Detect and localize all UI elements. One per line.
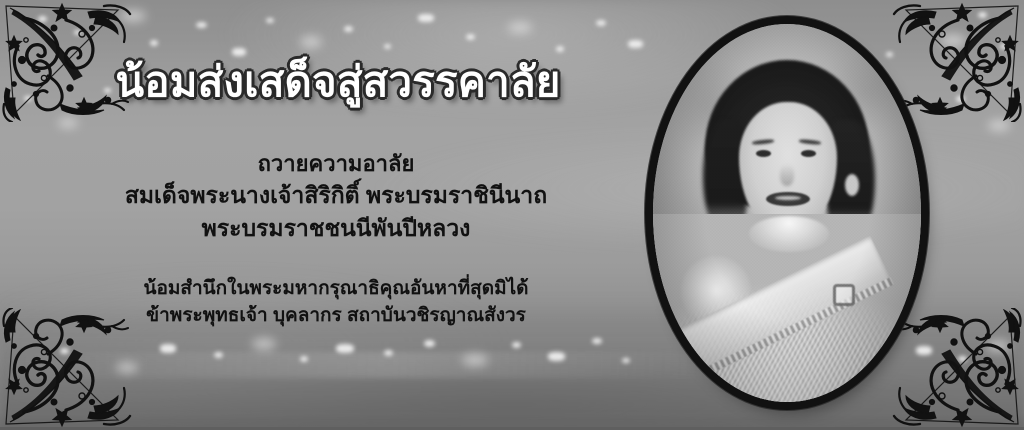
tribute-primary-line-2: สมเด็จพระนางเจ้าสิริกิติ์ พระบรมราชินีนา… xyxy=(48,179,624,212)
headline: น้อมส่งเสด็จสู่สวรรคาลัย xyxy=(58,58,618,106)
tribute-secondary-line-2: ข้าพระพุทธเจ้า บุคลากร สถาบันวชิรญาณสังว… xyxy=(48,302,624,330)
royal-portrait xyxy=(653,24,921,402)
portrait-vignette xyxy=(653,24,921,402)
tribute-primary: ถวายความอาลัย สมเด็จพระนางเจ้าสิริกิติ์ … xyxy=(48,148,624,245)
tribute-spacer xyxy=(48,245,624,275)
memorial-banner: น้อมส่งเสด็จสู่สวรรคาลัย ถวายความอาลัย ส… xyxy=(0,0,1024,430)
tribute-secondary: น้อมสำนึกในพระมหากรุณาธิคุณอันหาที่สุดมิ… xyxy=(48,275,624,330)
tribute-secondary-line-1: น้อมสำนึกในพระมหากรุณาธิคุณอันหาที่สุดมิ… xyxy=(48,275,624,303)
tribute-primary-line-3: พระบรมราชชนนีพันปีหลวง xyxy=(48,212,624,245)
tribute-primary-line-1: ถวายความอาลัย xyxy=(48,148,624,179)
tribute-text-block: ถวายความอาลัย สมเด็จพระนางเจ้าสิริกิติ์ … xyxy=(48,148,624,330)
